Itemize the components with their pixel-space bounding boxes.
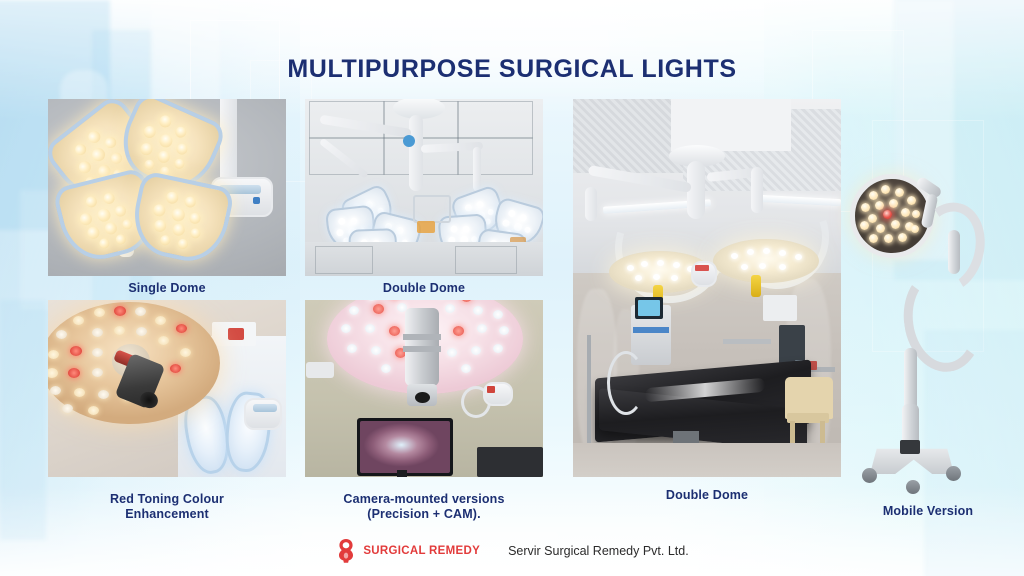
caption-double-dome-theatre: Double Dome: [573, 488, 841, 503]
photo-single-dome: [48, 99, 286, 276]
caption-camera-mounted-line1: Camera-mounted versions: [305, 492, 543, 507]
photo-mobile-version: [848, 168, 1008, 498]
surgical-remedy-logo-icon: [335, 538, 357, 564]
brand-name: SURGICAL REMEDY: [363, 545, 480, 557]
footer: SURGICAL REMEDY Servir Surgical Remedy P…: [0, 538, 1024, 564]
photo-red-toning: [48, 300, 286, 477]
caption-red-toning-line1: Red Toning Colour: [48, 492, 286, 507]
endoscopic-monitor: [357, 418, 453, 476]
caption-camera-mounted: Camera-mounted versions (Precision + CAM…: [305, 492, 543, 522]
caption-double-dome-ceiling: Double Dome: [305, 281, 543, 296]
photo-double-dome-ceiling: [305, 99, 543, 276]
slide-canvas: MULTIPURPOSE SURGICAL LIGHTS: [0, 0, 1024, 576]
company-name: Servir Surgical Remedy Pvt. Ltd.: [508, 544, 689, 558]
caption-mobile-version: Mobile Version: [848, 504, 1008, 519]
photo-camera-mounted: [305, 300, 543, 477]
page-title: MULTIPURPOSE SURGICAL LIGHTS: [0, 55, 1024, 84]
surgical-light-right: [713, 239, 819, 283]
caption-red-toning-line2: Enhancement: [48, 507, 286, 522]
caption-red-toning: Red Toning Colour Enhancement: [48, 492, 286, 522]
caption-camera-mounted-line2: (Precision + CAM).: [305, 507, 543, 522]
brand-lockup: SURGICAL REMEDY: [335, 538, 480, 564]
photo-double-dome-theatre: [573, 99, 841, 477]
caption-single-dome: Single Dome: [48, 281, 286, 296]
